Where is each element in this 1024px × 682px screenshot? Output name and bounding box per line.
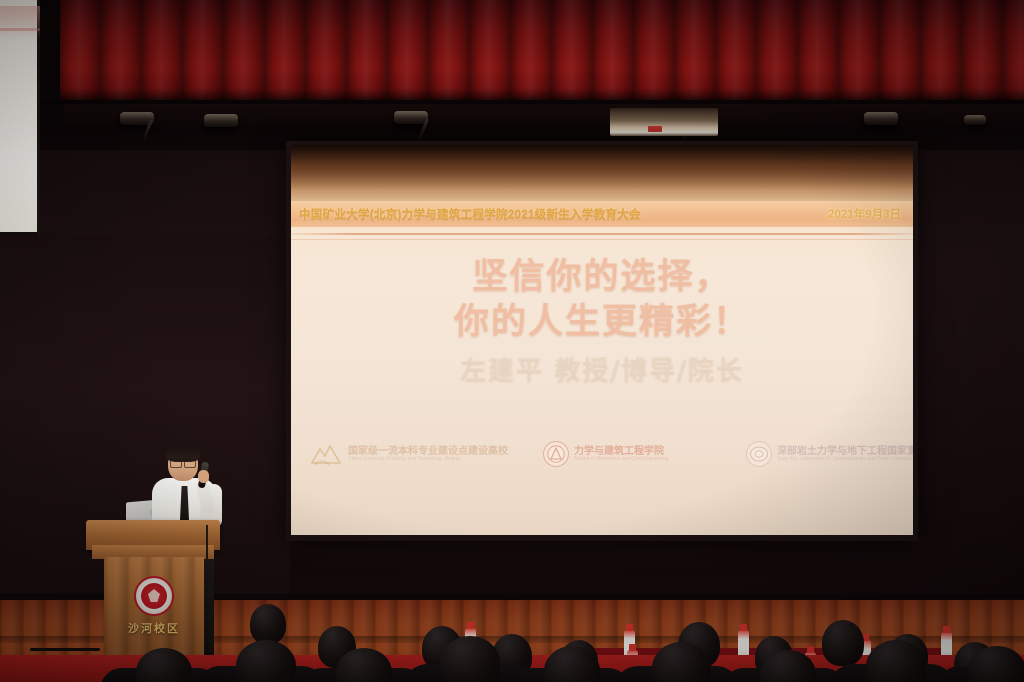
slide-speaker-credit: 左建平 教授/博导/院长	[291, 350, 913, 387]
projection-screen: 中国矿业大学(北京)力学与建筑工程学院2021级新生入学教育大会 2021年9月…	[291, 145, 913, 535]
floor-cable	[30, 648, 100, 651]
stage-lamp-icon	[864, 112, 898, 125]
slide-header-rule	[291, 233, 913, 235]
audience-head	[822, 620, 864, 666]
stage-light-panel	[610, 108, 718, 136]
slide-logo-college-en: School of Mechanics and Civil Engineerin…	[574, 457, 669, 463]
podium-campus-label: 沙河校区	[104, 620, 204, 636]
projection-screen-frame: 中国矿业大学(北京)力学与建筑工程学院2021级新生入学教育大会 2021年9月…	[286, 141, 918, 541]
audience-head	[250, 604, 286, 644]
stage-lamp-icon	[204, 114, 238, 127]
auditorium-scene: 中国矿业大学(北京)力学与建筑工程学院2021级新生入学教育大会 2021年9月…	[0, 0, 1024, 682]
slide-logo-lab-en: State Key Laboratory for Geomechanics an…	[777, 457, 913, 463]
slide-header-date: 2021年9月3日	[828, 206, 901, 222]
slide-main-title: 坚信你的选择， 你的人生更精彩！	[291, 255, 913, 345]
speaker-hand	[198, 470, 209, 483]
slide-logo-lab: 深部岩土力学与地下工程国家重点实验室 State Key Laboratory …	[746, 441, 913, 467]
slide-logo-university: 国家级一流本科专业建设点建设高校 China University of Min…	[309, 441, 508, 467]
stage-lamp-icon	[394, 111, 428, 124]
slide-logo-row: 国家级一流本科专业建设点建设高校 China University of Min…	[291, 439, 913, 473]
audience-head-front	[440, 636, 500, 682]
side-screen-tint	[0, 6, 40, 40]
audio-cable	[206, 525, 208, 665]
side-screen-stripe	[0, 28, 40, 31]
lab-seal-icon	[746, 441, 772, 467]
slide-logo-university-text: 国家级一流本科专业建设点建设高校 China University of Min…	[348, 446, 508, 463]
mountain-logo-icon	[309, 441, 343, 467]
left-side-projection-screen	[0, 0, 40, 236]
glasses-icon	[170, 459, 196, 465]
slide-logo-college: 力学与建筑工程学院 School of Mechanics and Civil …	[543, 441, 669, 467]
slide-header-band: 中国矿业大学(北京)力学与建筑工程学院2021级新生入学教育大会 2021年9月…	[291, 201, 913, 227]
slide-title-line-2: 你的人生更精彩！	[291, 300, 913, 345]
stage-lamp-icon	[964, 115, 986, 125]
slide-header-rule-secondary	[291, 239, 913, 240]
slide-logo-lab-text: 深部岩土力学与地下工程国家重点实验室 State Key Laboratory …	[777, 446, 913, 463]
emblem-inner	[141, 583, 167, 609]
lighting-truss	[64, 104, 1024, 134]
slide-logo-college-text: 力学与建筑工程学院 School of Mechanics and Civil …	[574, 446, 669, 463]
college-seal-icon	[543, 441, 569, 467]
university-emblem-icon	[134, 576, 174, 616]
slide-logo-university-en: China University of Mining and Technolog…	[348, 457, 508, 463]
slide-header-organization: 中国矿业大学(北京)力学与建筑工程学院2021级新生入学教育大会	[299, 206, 641, 222]
slide-top-gradient	[291, 145, 913, 203]
slide-title-line-1: 坚信你的选择，	[291, 255, 913, 300]
